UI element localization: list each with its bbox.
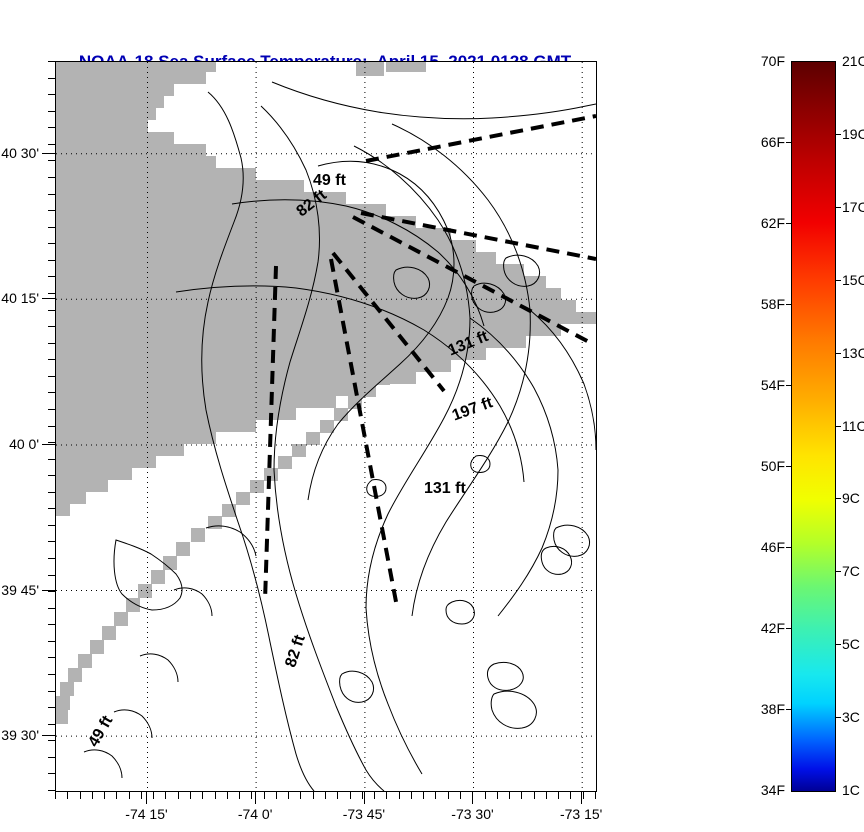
colorbar-c-tick — [835, 134, 841, 135]
y-axis-tick — [48, 293, 55, 294]
y-axis-tick — [48, 691, 55, 692]
y-axis-tick — [48, 508, 55, 509]
y-axis-tick — [48, 243, 55, 244]
y-axis-tick — [48, 392, 55, 393]
x-axis-tick — [141, 792, 142, 799]
y-axis-tick — [48, 575, 55, 576]
colorbar-f-label-0: 70F — [747, 53, 785, 69]
x-axis-tick — [325, 792, 326, 799]
x-axis-tick — [435, 792, 436, 799]
x-axis-tick — [595, 792, 596, 799]
colorbar-c-tick — [835, 644, 841, 645]
y-axis-tick — [48, 674, 55, 675]
x-axis-tick — [153, 792, 154, 799]
y-axis-tick — [48, 326, 55, 327]
y-axis-tick — [48, 310, 55, 311]
x-axis-tick — [583, 792, 584, 799]
x-axis-tick — [399, 792, 400, 799]
colorbar-c-tick — [835, 280, 841, 281]
x-axis-label-1: -74 0' — [238, 806, 273, 822]
colorbar-c-label-9: 3C — [842, 709, 860, 725]
colorbar-f-tick — [786, 466, 791, 467]
colorbar-c-label-8: 5C — [842, 636, 860, 652]
y-axis-tick — [48, 426, 55, 427]
y-axis-tick — [48, 608, 55, 609]
x-axis-major-tick — [146, 792, 147, 804]
y-axis-label-3: 39 45' — [0, 582, 39, 598]
x-axis-tick — [485, 792, 486, 799]
x-axis-tick — [92, 792, 93, 799]
y-axis-tick — [48, 276, 55, 277]
y-axis-tick — [48, 409, 55, 410]
x-axis-tick — [104, 792, 105, 799]
x-axis-tick — [374, 792, 375, 799]
x-axis-tick — [337, 792, 338, 799]
colorbar-f-tick — [786, 385, 791, 386]
transect-ne-1 — [366, 116, 596, 161]
y-axis-major-tick — [42, 735, 55, 736]
x-axis-tick — [129, 792, 130, 799]
colorbar-f-label-7: 42F — [747, 620, 785, 636]
y-axis-label-4: 39 30' — [0, 727, 39, 743]
y-axis-tick — [48, 757, 55, 758]
colorbar-f-label-5: 50F — [747, 458, 785, 474]
x-axis-label-4: -73 15' — [560, 806, 602, 822]
y-axis-tick — [48, 459, 55, 460]
x-axis-tick — [534, 792, 535, 799]
y-axis-tick — [48, 773, 55, 774]
colorbar-c-tick — [835, 353, 841, 354]
y-axis-tick — [48, 127, 55, 128]
colorbar-f-tick — [786, 142, 791, 143]
sst-map-panel[interactable]: 49 ft 82 ft 131 ft 197 ft 131 ft 82 ft 4… — [55, 61, 597, 792]
x-axis-tick — [288, 792, 289, 799]
x-axis-tick — [178, 792, 179, 799]
x-axis-tick — [423, 792, 424, 799]
x-axis-tick — [411, 792, 412, 799]
y-axis-tick — [48, 194, 55, 195]
colorbar-c-label-1: 19C — [842, 126, 864, 142]
colorbar-f-tick — [786, 547, 791, 548]
colorbar-c-label-3: 15C — [842, 272, 864, 288]
depth-label-131ft-south: 131 ft — [424, 480, 466, 498]
y-axis-tick — [48, 641, 55, 642]
colorbar-f-label-6: 46F — [747, 539, 785, 555]
y-axis-label-0: 40 30' — [0, 145, 39, 161]
colorbar-f-tick — [786, 304, 791, 305]
y-axis-tick — [48, 442, 55, 443]
x-axis-major-tick — [472, 792, 473, 804]
x-axis-tick — [80, 792, 81, 799]
x-axis-label-0: -74 15' — [125, 806, 167, 822]
y-axis-tick — [48, 790, 55, 791]
y-axis-tick — [48, 359, 55, 360]
y-axis-tick — [48, 525, 55, 526]
y-axis-tick — [48, 260, 55, 261]
y-axis-major-tick — [42, 298, 55, 299]
colorbar-f-label-4: 54F — [747, 377, 785, 393]
y-axis-tick — [48, 740, 55, 741]
y-axis-tick — [48, 707, 55, 708]
y-axis-tick — [48, 94, 55, 95]
x-axis-tick — [300, 792, 301, 799]
colorbar-c-label-0: 21C — [842, 53, 864, 69]
colorbar-c-label-7: 7C — [842, 563, 860, 579]
x-axis-tick — [362, 792, 363, 799]
colorbar-c-tick — [835, 207, 841, 208]
colorbar-f-label-3: 58F — [747, 296, 785, 312]
x-axis-major-tick — [581, 792, 582, 804]
x-axis-label-2: -73 45' — [343, 806, 385, 822]
x-axis-tick — [227, 792, 228, 799]
x-axis-tick — [190, 792, 191, 799]
colorbar-c-label-5: 11C — [842, 418, 864, 434]
x-axis-label-3: -73 30' — [451, 806, 493, 822]
colorbar-f-label-2: 62F — [747, 215, 785, 231]
x-axis-tick — [55, 792, 56, 799]
colorbar-f-label-1: 66F — [747, 134, 785, 150]
colorbar-c-label-4: 13C — [842, 345, 864, 361]
x-axis-tick — [276, 792, 277, 799]
y-axis-tick — [48, 591, 55, 592]
x-axis-tick — [460, 792, 461, 799]
y-axis-tick — [48, 541, 55, 542]
y-axis-tick — [48, 144, 55, 145]
y-axis-tick — [48, 210, 55, 211]
x-axis-major-tick — [364, 792, 365, 804]
x-axis-tick — [116, 792, 117, 799]
colorbar-gradient — [792, 62, 835, 791]
y-axis-major-tick — [42, 590, 55, 591]
x-axis-tick — [570, 792, 571, 799]
y-axis-tick — [48, 61, 55, 62]
y-axis-tick — [48, 227, 55, 228]
x-axis-major-tick — [255, 792, 256, 804]
colorbar-f-tick — [786, 223, 791, 224]
colorbar-f-tick — [786, 628, 791, 629]
colorbar-c-tick — [835, 426, 841, 427]
x-axis-tick — [497, 792, 498, 799]
x-axis-tick — [386, 792, 387, 799]
y-axis-tick — [48, 177, 55, 178]
x-axis-tick — [165, 792, 166, 799]
y-axis-label-1: 40 15' — [0, 290, 39, 306]
x-axis-tick — [67, 792, 68, 799]
colorbar-c-tick — [835, 717, 841, 718]
y-axis-tick — [48, 724, 55, 725]
y-axis-label-2: 40 0' — [0, 436, 39, 452]
x-axis-tick — [202, 792, 203, 799]
colorbar-c-label-2: 17C — [842, 199, 864, 215]
temperature-colorbar[interactable] — [791, 61, 836, 792]
y-axis-tick — [48, 160, 55, 161]
y-axis-major-tick — [42, 444, 55, 445]
colorbar-f-tick — [786, 709, 791, 710]
y-axis-tick — [48, 558, 55, 559]
x-axis-tick — [239, 792, 240, 799]
colorbar-c-label-10: 1C — [842, 782, 860, 798]
x-axis-tick — [313, 792, 314, 799]
y-axis-tick — [48, 624, 55, 625]
colorbar-c-label-6: 9C — [842, 490, 860, 506]
x-axis-tick — [448, 792, 449, 799]
x-axis-tick — [509, 792, 510, 799]
y-axis-tick — [48, 343, 55, 344]
y-axis-tick — [48, 657, 55, 658]
x-axis-tick — [558, 792, 559, 799]
y-axis-tick — [48, 492, 55, 493]
x-axis-tick — [546, 792, 547, 799]
x-axis-tick — [251, 792, 252, 799]
x-axis-tick — [215, 792, 216, 799]
colorbar-c-tick — [835, 571, 841, 572]
colorbar-f-label-9: 34F — [747, 782, 785, 798]
y-axis-tick — [48, 111, 55, 112]
y-axis-tick — [48, 78, 55, 79]
x-axis-tick — [264, 792, 265, 799]
colorbar-f-label-8: 38F — [747, 701, 785, 717]
x-axis-tick — [521, 792, 522, 799]
y-axis-tick — [48, 475, 55, 476]
y-axis-major-tick — [42, 153, 55, 154]
x-axis-tick — [350, 792, 351, 799]
y-axis-tick — [48, 376, 55, 377]
colorbar-c-tick — [835, 498, 841, 499]
